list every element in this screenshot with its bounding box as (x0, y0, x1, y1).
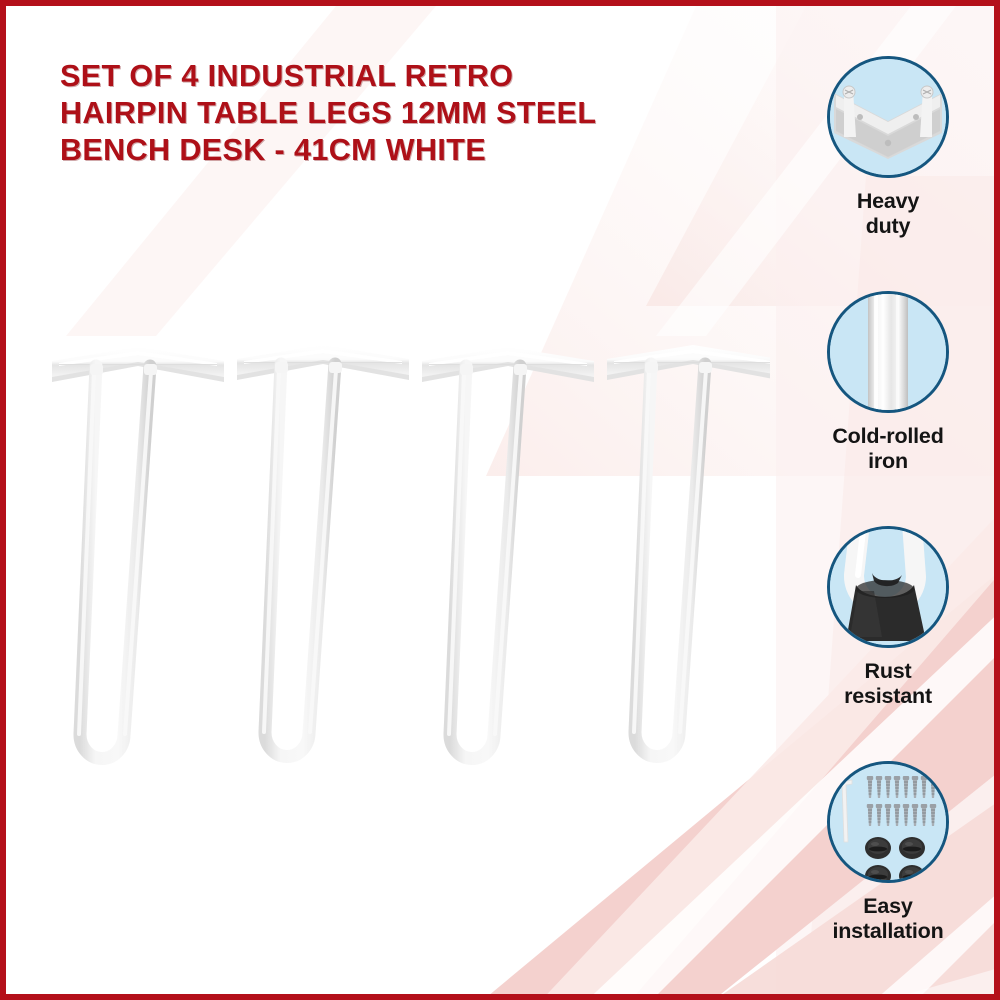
feature-cold-rolled-iron[interactable]: Cold-rolled iron (790, 291, 986, 526)
feature-heavy-duty[interactable]: Heavy duty (790, 56, 986, 291)
product-photo (30, 332, 770, 832)
leg-foot-cap-icon (827, 526, 949, 648)
bracket-plate-icon (827, 56, 949, 178)
hairpin-leg-2 (237, 345, 409, 757)
feature-list: Heavy duty (790, 56, 986, 994)
feature-rust-resistant[interactable]: Rust resistant (790, 526, 986, 761)
hairpin-legs-illustration (30, 332, 770, 832)
image-canvas: SET OF 4 INDUSTRIAL RETRO HAIRPIN TABLE … (6, 6, 994, 994)
hairpin-leg-3 (422, 347, 594, 759)
product-title: SET OF 4 INDUSTRIAL RETRO HAIRPIN TABLE … (60, 58, 760, 169)
feature-label: Easy installation (832, 894, 943, 944)
feature-label: Rust resistant (844, 659, 932, 709)
feature-label: Cold-rolled iron (832, 424, 943, 474)
screws-and-caps-icon (827, 761, 949, 883)
hairpin-leg-1 (52, 347, 224, 759)
hairpin-leg-4 (607, 345, 770, 757)
product-listing-image: SET OF 4 INDUSTRIAL RETRO HAIRPIN TABLE … (0, 0, 1000, 1000)
feature-easy-installation[interactable]: Easy installation (790, 761, 986, 994)
steel-rod-icon (827, 291, 949, 413)
feature-label: Heavy duty (857, 189, 919, 239)
